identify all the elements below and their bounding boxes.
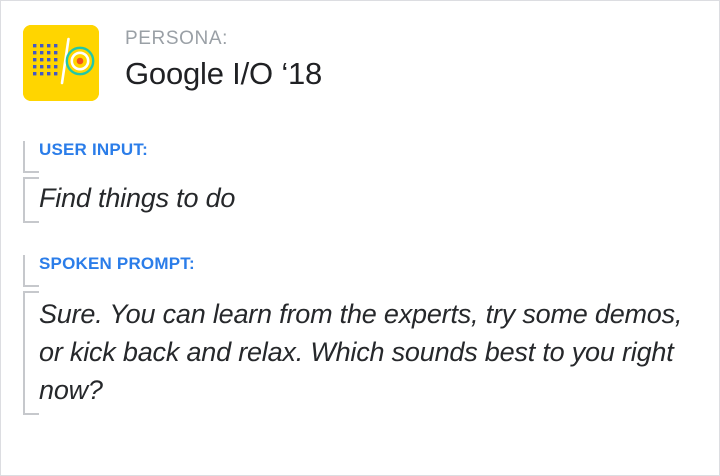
spoken-prompt-text: Sure. You can learn from the experts, tr… [39,291,703,415]
persona-header: PERSONA: Google I/O ‘18 [23,25,322,101]
user-input-body-bracket: Find things to do [23,177,235,223]
user-input-text: Find things to do [39,177,235,223]
persona-dialog-card: PERSONA: Google I/O ‘18 USER INPUT: Find… [0,0,720,476]
persona-text-block: PERSONA: Google I/O ‘18 [125,25,322,92]
persona-name: Google I/O ‘18 [125,55,322,92]
spoken-prompt-label-bracket: SPOKEN PROMPT: [23,253,703,287]
user-input-label: USER INPUT: [39,139,148,160]
spoken-prompt-body-bracket: Sure. You can learn from the experts, tr… [23,291,703,415]
spoken-prompt-label: SPOKEN PROMPT: [39,253,195,274]
section-spoken-prompt: SPOKEN PROMPT: Sure. You can learn from … [23,253,703,415]
google-io-logo-icon [23,25,99,101]
section-user-input: USER INPUT: Find things to do [23,139,235,223]
persona-label: PERSONA: [125,28,322,51]
user-input-label-bracket: USER INPUT: [23,139,235,173]
